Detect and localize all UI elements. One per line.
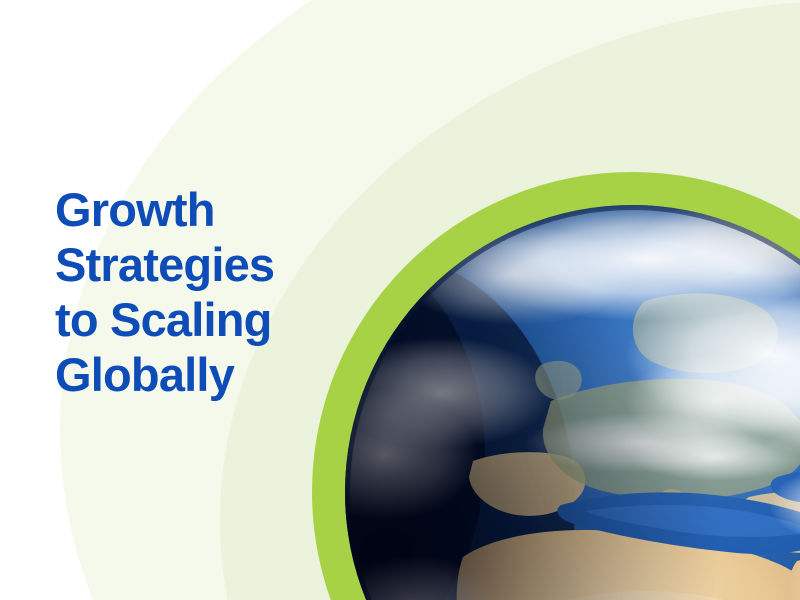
title-line-2: Strategies [55, 237, 385, 292]
title-line-1: Growth [55, 182, 385, 237]
slide-title: Growth Strategies to Scaling Globally [55, 182, 385, 402]
title-line-4: Globally [55, 347, 385, 402]
presentation-slide: Growth Strategies to Scaling Globally [0, 0, 800, 600]
title-line-3: to Scaling [55, 292, 385, 347]
